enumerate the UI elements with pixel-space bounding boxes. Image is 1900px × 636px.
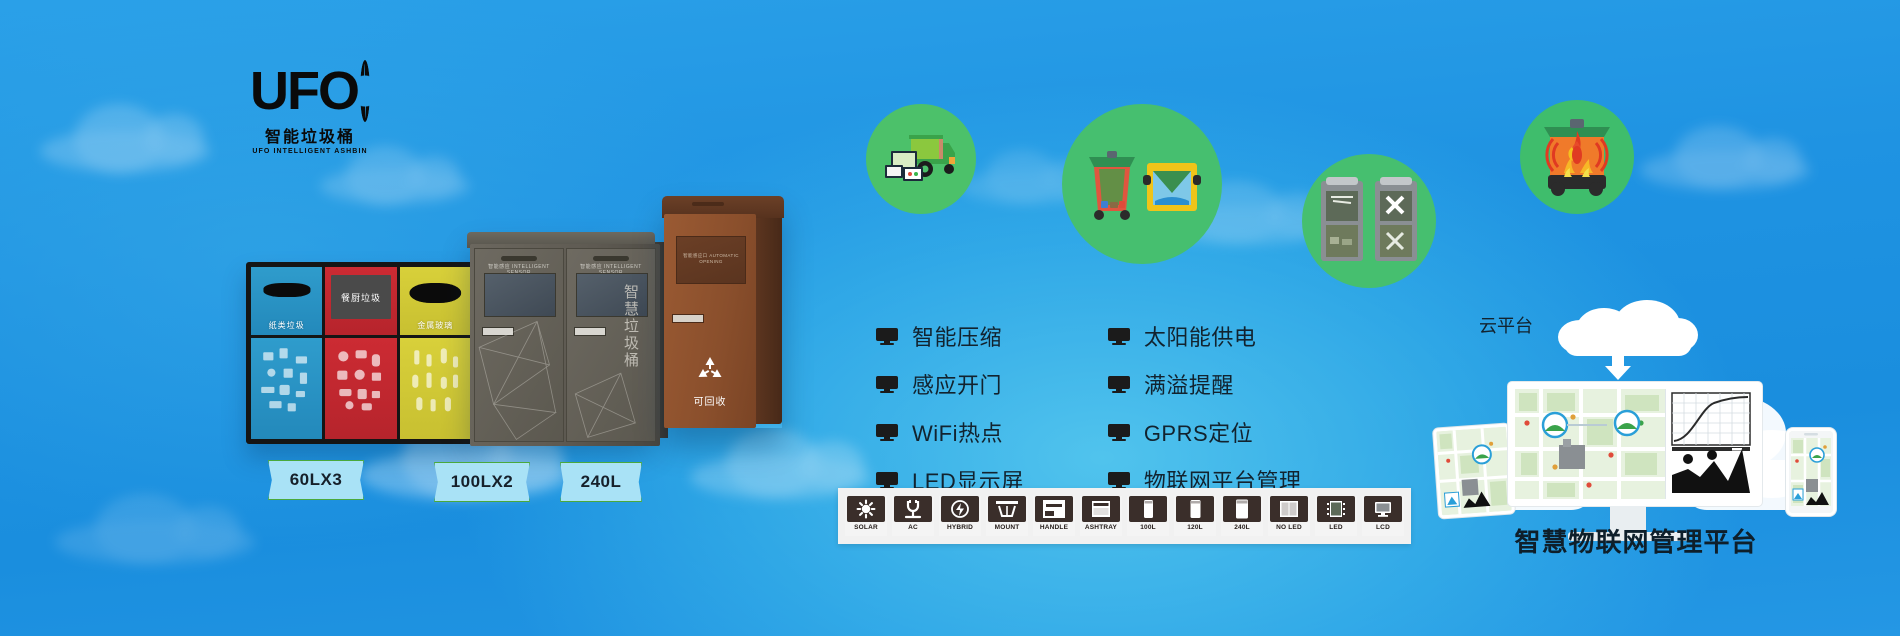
cloud-decoration [55, 520, 255, 564]
bin-screen: 餐厨垃圾 [331, 275, 391, 319]
compaction-bins-icon [1317, 175, 1421, 267]
charts-panel [1665, 389, 1756, 499]
spec-icon-caption: LCD [1376, 524, 1390, 532]
feature-item: 感应开门 [876, 368, 1024, 400]
bin-opening-double-slot-icon [410, 283, 461, 303]
spec-icon-solar: SOLAR [845, 496, 887, 536]
bin-compartment-label: 金属玻璃 [417, 320, 453, 331]
garbage-truck-devices-icon [883, 129, 959, 189]
banner-canvas: UFO 智能垃圾桶 UFO INTELLIGENT ASHBIN 纸类垃圾 [0, 0, 1900, 636]
spec-icon-caption: NO LED [1276, 524, 1302, 532]
feature-circle-collection [866, 104, 976, 214]
product-brown-bin: 智能感应口 AUTOMATIC OPENING 可回收 [664, 196, 782, 428]
power-plug-icon [902, 499, 924, 519]
bin-compartment-paper: 纸类垃圾 [251, 267, 322, 439]
bin-handle [672, 314, 704, 323]
logo-wordmark: UFO [250, 67, 358, 115]
handle-icon [1042, 499, 1066, 519]
product-label-banner: 60LX3 [268, 460, 364, 500]
recycle-icon [693, 354, 727, 386]
monitor-icon [1108, 424, 1130, 441]
recycle-badge: 可回收 [684, 354, 736, 408]
bin-panel-label: 智能感应口 AUTOMATIC OPENING [677, 253, 745, 265]
feature-column-2: 太阳能供电 满溢提醒 GPRS定位 物联网平台管理 [1108, 320, 1302, 496]
feature-item: WiFi热点 [876, 416, 1024, 448]
ufo-ring-icon [360, 60, 370, 122]
device-smartphone [1786, 428, 1836, 516]
spec-icon-handle: HANDLE [1033, 496, 1075, 536]
feature-item: 太阳能供电 [1108, 320, 1302, 352]
bin-compartment-label: 纸类垃圾 [269, 320, 305, 331]
spec-icon-no-led: NO LED [1268, 496, 1310, 536]
bin-panel: 智能感应口 AUTOMATIC OPENING [676, 236, 746, 284]
monitor-icon [876, 376, 898, 393]
cloud-label-shape [1558, 300, 1698, 356]
device-desktop-monitor [1508, 382, 1748, 541]
bin-compartment-label: 餐厨垃圾 [341, 291, 381, 304]
bin-door-left: 智能感应 INTELLIGENT SENSOR [474, 248, 564, 442]
logo-chinese-name: 智能垃圾桶 [250, 123, 370, 147]
cloud-decoration [1640, 150, 1810, 190]
spec-icon-mount: MOUNT [986, 496, 1028, 536]
hybrid-power-icon [949, 499, 971, 519]
monitor-icon [1108, 328, 1130, 345]
spec-icon-caption: AC [908, 524, 918, 532]
product-label-banner: 240L [560, 462, 642, 502]
bin-240l-icon [1231, 498, 1253, 520]
product-gray-double-bin: 智能感应 INTELLIGENT SENSOR 智能感应 INTELLIGENT… [470, 232, 652, 438]
no-led-icon [1277, 499, 1301, 519]
iot-platform-illustration: 云平台 [1436, 300, 1836, 560]
feature-column-1: 智能压缩 感应开门 WiFi热点 LED显示屏 [876, 320, 1024, 496]
feature-label: 感应开门 [912, 368, 1002, 400]
fire-alarm-bin-icon [1534, 115, 1620, 199]
cloud-decoration [40, 130, 210, 172]
spec-icon-ac: AC [892, 496, 934, 536]
recycle-label: 可回收 [684, 393, 736, 408]
product-label-banner: 100LX2 [434, 462, 530, 502]
bin-compartment-kitchen: 餐厨垃圾 [325, 267, 396, 439]
feature-label: WiFi热点 [912, 416, 1003, 448]
wall-mount-icon [995, 499, 1019, 519]
bin-graphic-paper [251, 338, 322, 420]
led-icon [1325, 499, 1347, 519]
monitor-icon [1108, 376, 1130, 393]
spec-icon-240l: 240L [1221, 496, 1263, 536]
monitor-icon [1108, 472, 1130, 489]
bin-graphic-polygon [475, 249, 563, 442]
bin-120l-icon [1185, 498, 1205, 520]
map-view [1515, 389, 1665, 499]
bin-graphic-kitchen [325, 338, 396, 420]
ashtray-icon [1090, 499, 1112, 519]
bin-compartment-metal-glass: 金属玻璃 [400, 267, 471, 439]
spec-icon-hybrid: HYBRID [939, 496, 981, 536]
bin-sorting-icon [1081, 145, 1203, 223]
spec-icon-caption: 120L [1187, 524, 1203, 532]
bin-graphic-metal-glass [400, 338, 471, 420]
feature-item: GPRS定位 [1108, 416, 1302, 448]
bin-opening-slot-icon [263, 283, 310, 297]
feature-circle-sorting [1062, 104, 1222, 264]
brand-logo: UFO 智能垃圾桶 UFO INTELLIGENT ASHBIN [250, 60, 370, 155]
bin-100l-icon [1138, 498, 1158, 520]
feature-circle-fire-alarm [1520, 100, 1634, 214]
feature-label: 满溢提醒 [1144, 368, 1234, 400]
spec-icon-caption: 240L [1234, 524, 1250, 532]
cloud-decoration [320, 168, 470, 204]
feature-list: 智能压缩 感应开门 WiFi热点 LED显示屏 太阳能供电 满溢提醒 [876, 320, 1301, 496]
bin-door-right: 智能感应 INTELLIGENT SENSOR [566, 248, 656, 442]
monitor-icon [876, 472, 898, 489]
spec-icon-caption: LED [1329, 524, 1343, 532]
spec-icon-120l: 120L [1174, 496, 1216, 536]
feature-circle-compaction [1302, 154, 1436, 288]
feature-item: 满溢提醒 [1108, 368, 1302, 400]
feature-item: 智能压缩 [876, 320, 1024, 352]
spec-icon-caption: MOUNT [995, 524, 1020, 532]
sun-icon [855, 499, 877, 519]
spec-icon-led: LED [1315, 496, 1357, 536]
spec-icon-ashtray: ASHTRAY [1080, 496, 1122, 536]
device-tablet [1433, 423, 1515, 518]
spec-icon-caption: SOLAR [854, 524, 878, 532]
product-triple-bin: 纸类垃圾 餐厨垃圾 [246, 262, 476, 444]
feature-label: 太阳能供电 [1144, 320, 1257, 352]
bin-vent [692, 202, 724, 206]
spec-icon-caption: HANDLE [1040, 524, 1068, 532]
spec-icon-strip: SOLAR AC HYBRID MOUNT [838, 488, 1411, 544]
feature-label: GPRS定位 [1144, 416, 1253, 448]
logo-mark: UFO [250, 60, 370, 122]
monitor-icon [876, 424, 898, 441]
monitor-icon [876, 328, 898, 345]
bin-vertical-text: 智慧垃圾桶 [624, 284, 642, 369]
spec-icon-lcd: LCD [1362, 496, 1404, 536]
logo-english-name: UFO INTELLIGENT ASHBIN [250, 148, 370, 155]
platform-title: 智慧物联网管理平台 [1436, 522, 1836, 559]
spec-icon-100l: 100L [1127, 496, 1169, 536]
spec-icon-caption: 100L [1140, 524, 1156, 532]
cloud-platform-label: 云平台 [1436, 312, 1576, 338]
spec-icon-caption: HYBRID [947, 524, 973, 532]
feature-label: 智能压缩 [912, 320, 1002, 352]
lcd-icon [1371, 499, 1395, 519]
bin-side-panel [754, 202, 782, 424]
spec-icon-caption: ASHTRAY [1085, 524, 1117, 532]
